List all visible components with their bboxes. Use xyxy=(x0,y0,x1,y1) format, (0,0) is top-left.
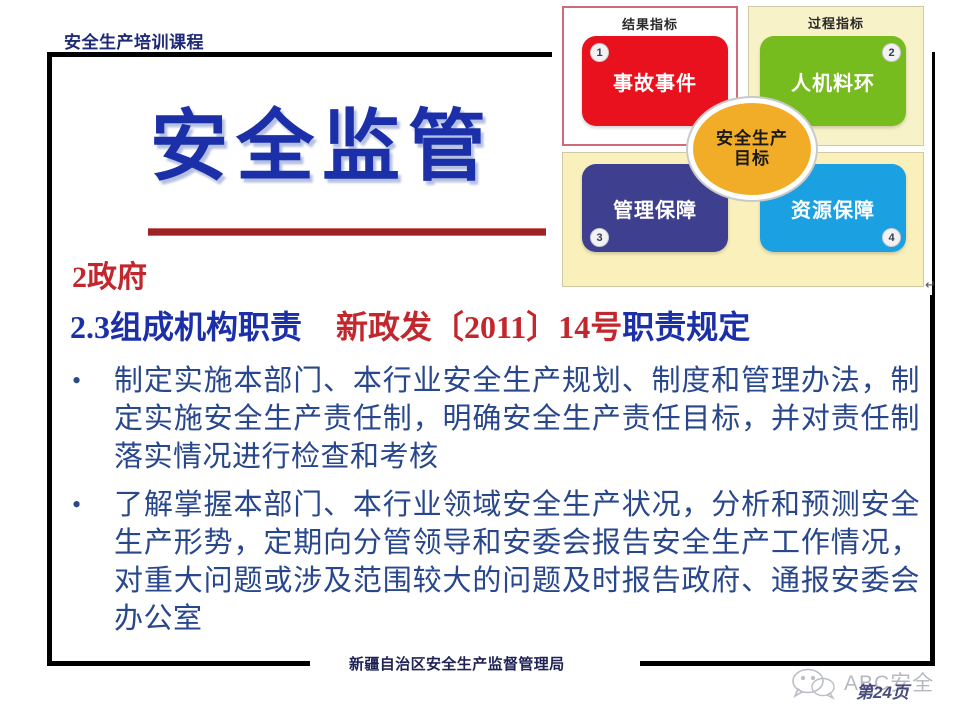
subsection-heading: 2.3组成机构职责新政发〔2011〕14号职责规定 xyxy=(70,302,750,348)
safety-target-diagram: 结果指标 过程指标 事故事件 人机料环 管理保障 资源保障 1 2 3 4 安全… xyxy=(552,0,932,295)
paragraph-mark-icon: ↵ xyxy=(925,277,936,293)
bullet-list: • 制定实施本部门、本行业安全生产规划、制度和管理办法，制定实施安全生产责任制，… xyxy=(64,362,920,648)
footer-organization: 新疆自治区安全生产监督管理局 xyxy=(349,653,565,674)
subsection-heading-part-2: 职责规定 xyxy=(622,309,750,345)
course-header-label: 安全生产培训课程 xyxy=(64,28,204,53)
page-number: 第24页 xyxy=(856,678,909,703)
wechat-icon xyxy=(792,668,836,705)
slide-canvas: 安全生产培训课程 安全监管 2政府 2.3组成机构职责新政发〔2011〕14号职… xyxy=(0,0,960,720)
list-item: • 制定实施本部门、本行业安全生产规划、制度和管理办法，制定实施安全生产责任制，… xyxy=(64,362,920,476)
bullet-text: 了解掌握本部门、本行业领域安全生产状况，分析和预测安全生产形势，定期向分管领导和… xyxy=(114,486,920,638)
diagram-badge-1: 1 xyxy=(590,43,609,62)
bullet-text: 制定实施本部门、本行业安全生产规划、制度和管理办法，制定实施安全生产责任制，明确… xyxy=(114,362,920,476)
frame-border-left xyxy=(47,52,52,666)
bullet-marker-icon: • xyxy=(64,362,114,400)
bullet-marker-icon: • xyxy=(64,486,114,524)
list-item: • 了解掌握本部门、本行业领域安全生产状况，分析和预测安全生产形势，定期向分管领… xyxy=(64,486,920,638)
diagram-center-line-1: 安全生产 xyxy=(716,129,788,149)
page-title: 安全监管 xyxy=(150,108,494,186)
diagram-quadrant-process-label: 过程指标 xyxy=(749,13,923,32)
subsection-heading-part-1: 2.3组成机构职责 xyxy=(70,309,302,345)
subsection-heading-document-no: 新政发〔2011〕14号 xyxy=(336,309,622,345)
diagram-badge-2: 2 xyxy=(882,43,901,62)
diagram-quadrant-result-label: 结果指标 xyxy=(564,14,736,33)
diagram-center-target: 安全生产 目标 xyxy=(688,98,816,200)
diagram-badge-3: 3 xyxy=(590,228,609,247)
frame-border-bottom-left xyxy=(47,661,310,666)
diagram-center-line-2: 目标 xyxy=(734,149,770,169)
title-underline-rule xyxy=(148,228,546,236)
section-heading: 2政府 xyxy=(72,252,147,296)
diagram-badge-4: 4 xyxy=(882,228,901,247)
